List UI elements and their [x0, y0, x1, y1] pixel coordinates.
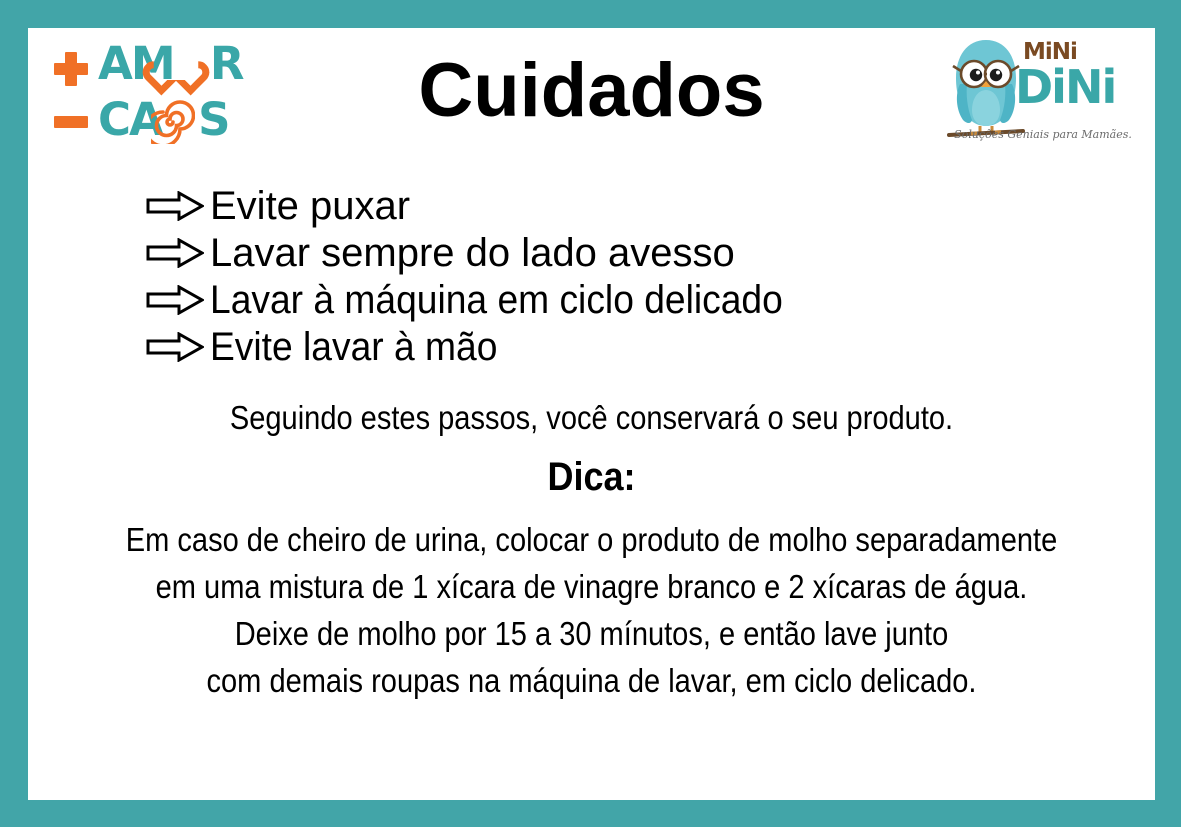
arrow-right-icon [146, 332, 204, 362]
arrow-right-icon [146, 238, 204, 268]
mini-dini-logo: MiNi DiNi Soluções Geniais para Mamães. [947, 30, 1137, 162]
list-item: Lavar sempre do lado avesso [146, 229, 1155, 276]
brand-name-dini: DiNi [1015, 64, 1140, 110]
card-header: AMOR CAOS Cuidados [28, 28, 1155, 168]
brand-text: MiNi DiNi [1015, 40, 1140, 110]
list-item: Evite puxar [146, 182, 1155, 229]
closing-statement: Seguindo estes passos, você conservará o… [96, 398, 1088, 438]
tip-line: em uma mistura de 1 xícara de vinagre br… [96, 563, 1088, 610]
tip-line: Deixe de molho por 15 a 30 mínutos, e en… [96, 610, 1088, 657]
care-item-label: Evite lavar à mão [210, 325, 497, 369]
care-item-label: Lavar sempre do lado avesso [210, 231, 735, 275]
care-item-label: Evite puxar [210, 184, 410, 228]
list-item: Evite lavar à mão [146, 323, 1155, 370]
tip-line: com demais roupas na máquina de lavar, e… [96, 657, 1088, 704]
care-instructions-list: Evite puxar Lavar sempre do lado avesso … [28, 182, 1155, 370]
care-item-label: Lavar à máquina em ciclo delicado [210, 278, 783, 322]
tip-body: Em caso de cheiro de urina, colocar o pr… [96, 516, 1088, 704]
care-instructions-card: AMOR CAOS Cuidados [0, 0, 1181, 827]
arrow-right-icon [146, 191, 204, 221]
tip-heading: Dica: [84, 454, 1098, 500]
card-white-panel: AMOR CAOS Cuidados [28, 28, 1155, 800]
tip-line: Em caso de cheiro de urina, colocar o pr… [96, 516, 1088, 563]
brand-tagline: Soluções Geniais para Mamães. [949, 128, 1137, 141]
list-item: Lavar à máquina em ciclo delicado [146, 276, 1155, 323]
arrow-right-icon [146, 285, 204, 315]
